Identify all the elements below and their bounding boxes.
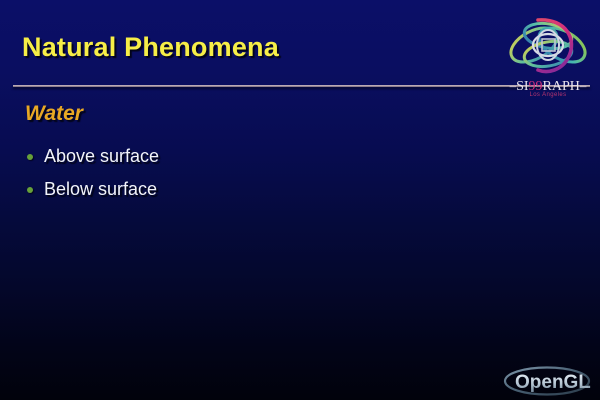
bullet-list: Above surface Below surface — [27, 140, 447, 206]
section-subheading: Water — [25, 102, 83, 126]
bullet-dot-icon — [27, 154, 33, 160]
opengl-period: . — [587, 375, 591, 392]
page-title: Natural Phenomena — [22, 32, 279, 63]
list-item-label: Above surface — [44, 146, 159, 167]
siggraph-mark-icon — [504, 12, 592, 78]
bullet-dot-icon — [27, 187, 33, 193]
presentation-slide: Natural Phenomena Water Above surface Be… — [0, 0, 600, 400]
list-item: Below surface — [27, 173, 447, 206]
list-item-label: Below surface — [44, 179, 157, 200]
opengl-logo-icon: OpenGL . — [503, 365, 595, 397]
siggraph-logo: –SI99RAPH– Los Angeles — [500, 12, 596, 106]
siggraph-city-label: Los Angeles — [500, 92, 596, 98]
list-item: Above surface — [27, 140, 447, 173]
siggraph-wordmark: –SI99RAPH– — [500, 78, 596, 93]
opengl-logo: OpenGL . — [503, 365, 595, 397]
wordmark-dash-right: – — [580, 78, 587, 93]
opengl-wordmark: OpenGL — [515, 372, 590, 393]
